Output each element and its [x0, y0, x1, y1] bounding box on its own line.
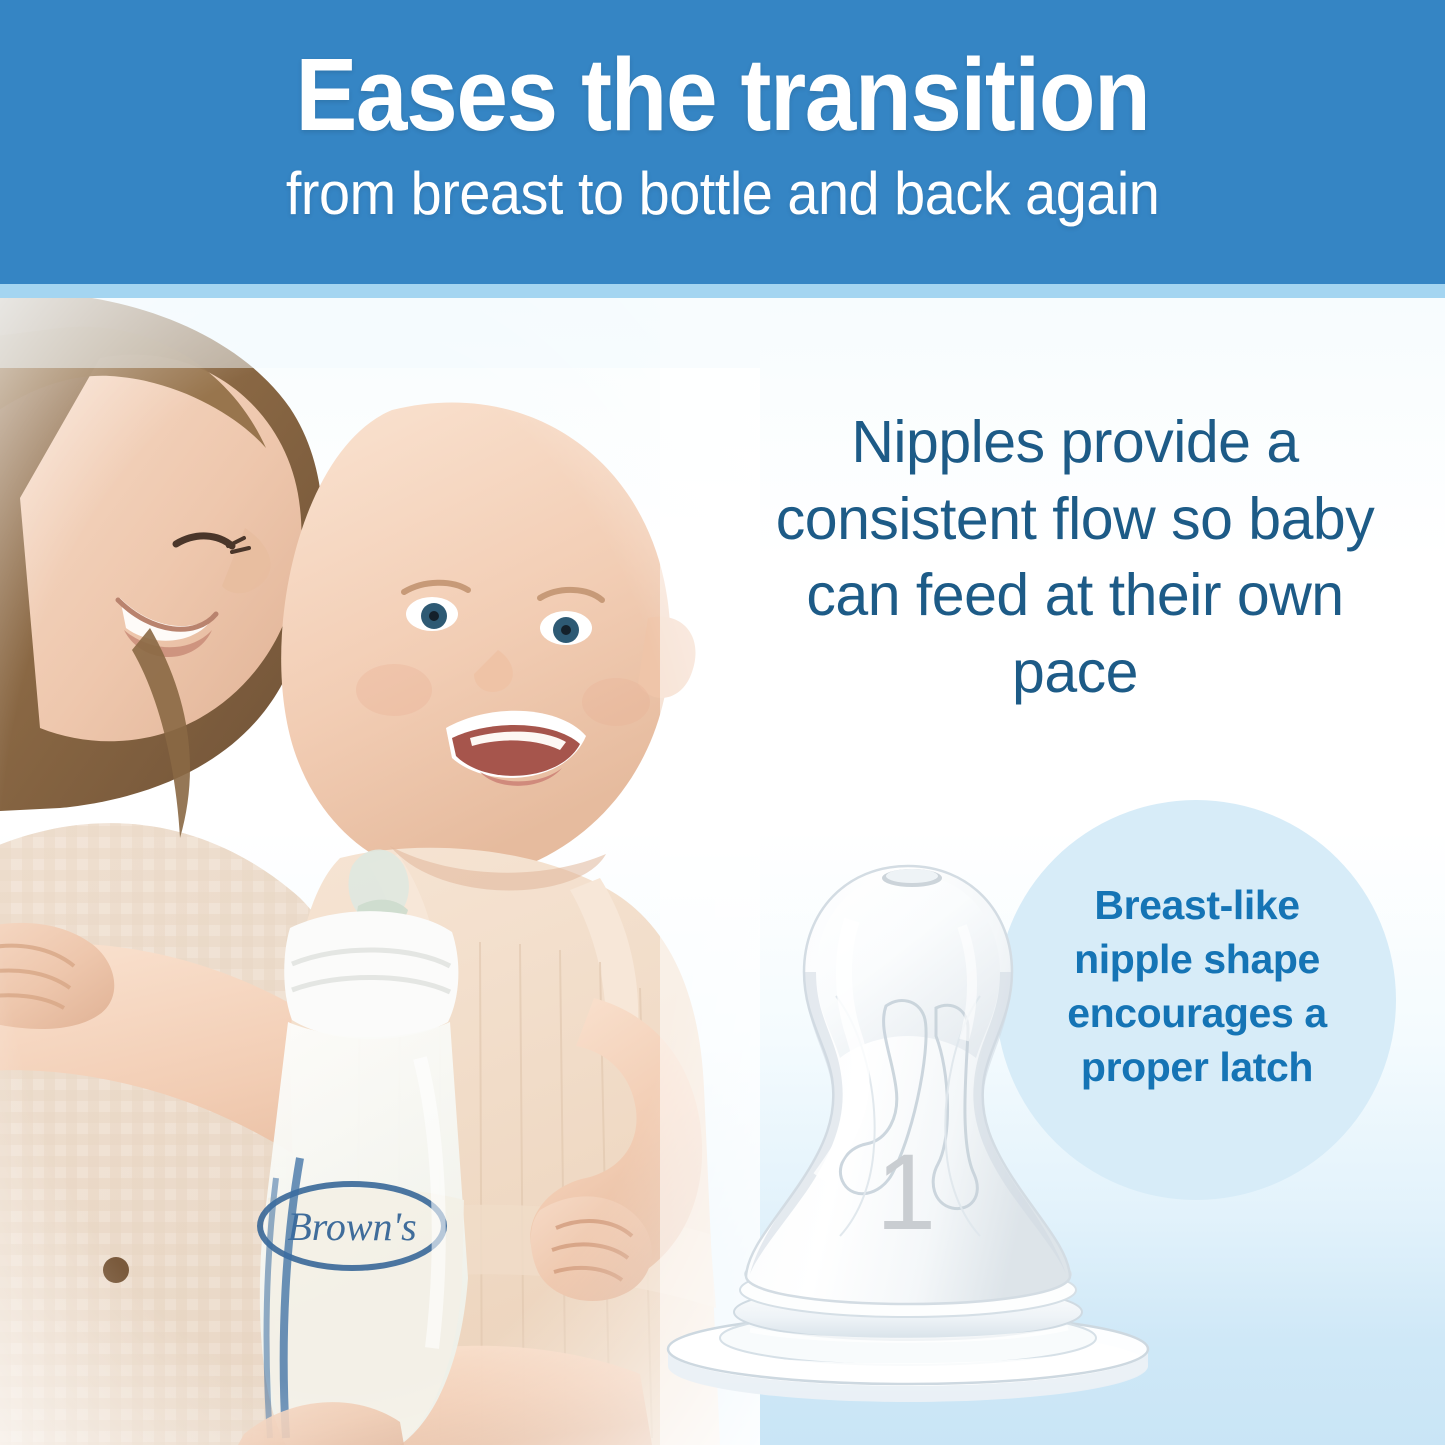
product-feature-panel: Brown's Eases the transition from breast…: [0, 0, 1445, 1445]
page-title: Eases the transition: [296, 42, 1150, 147]
header-band: Eases the transition from breast to bott…: [0, 0, 1445, 284]
header-underline: [0, 284, 1445, 298]
product-image-nipple: [640, 830, 1200, 1405]
page-subtitle: from breast to bottle and back again: [286, 159, 1160, 228]
feature-headline: Nipples provide a consistent flow so bab…: [770, 404, 1380, 711]
